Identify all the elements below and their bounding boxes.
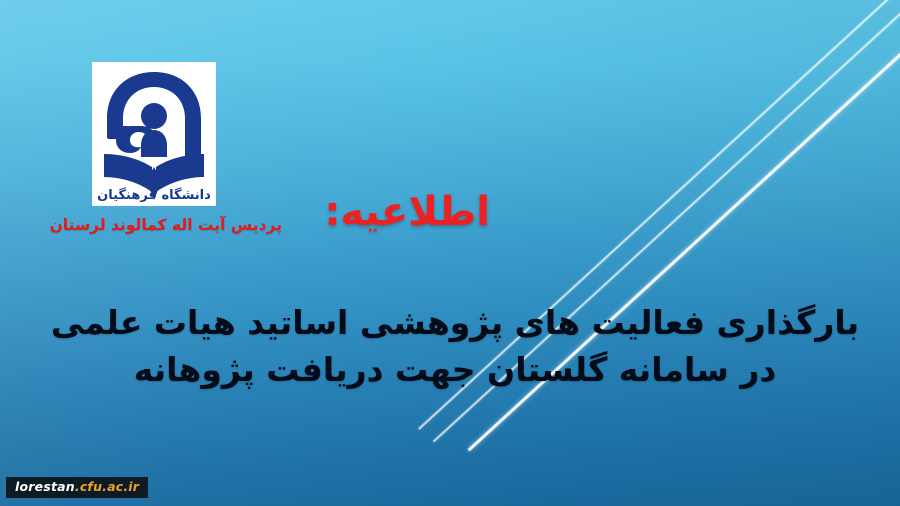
- farhangian-logo-icon: دانشگاه فرهنگیان: [98, 66, 210, 202]
- logo-caption: دانشگاه فرهنگیان: [98, 187, 210, 202]
- campus-name-label: پردیس آیت اله کمالوند لرستان: [62, 216, 282, 234]
- notice-heading: اطلاعیه:: [330, 190, 490, 234]
- watermark-domain-suffix: .cfu.ac.ir: [75, 479, 139, 494]
- watermark-site-name: lorestan: [15, 479, 75, 494]
- site-watermark: lorestan.cfu.ac.ir: [6, 477, 148, 499]
- university-logo: دانشگاه فرهنگیان: [92, 62, 216, 206]
- announcement-line-2: در سامانه گلستان جهت دریافت پژوهانه: [30, 347, 880, 394]
- announcement-body: بارگذاری فعالیت های پژوهشی اساتید هیات ع…: [30, 300, 880, 394]
- announcement-line-1: بارگذاری فعالیت های پژوهشی اساتید هیات ع…: [30, 300, 880, 347]
- announcement-poster: دانشگاه فرهنگیان پردیس آیت اله کمالوند ل…: [0, 0, 900, 506]
